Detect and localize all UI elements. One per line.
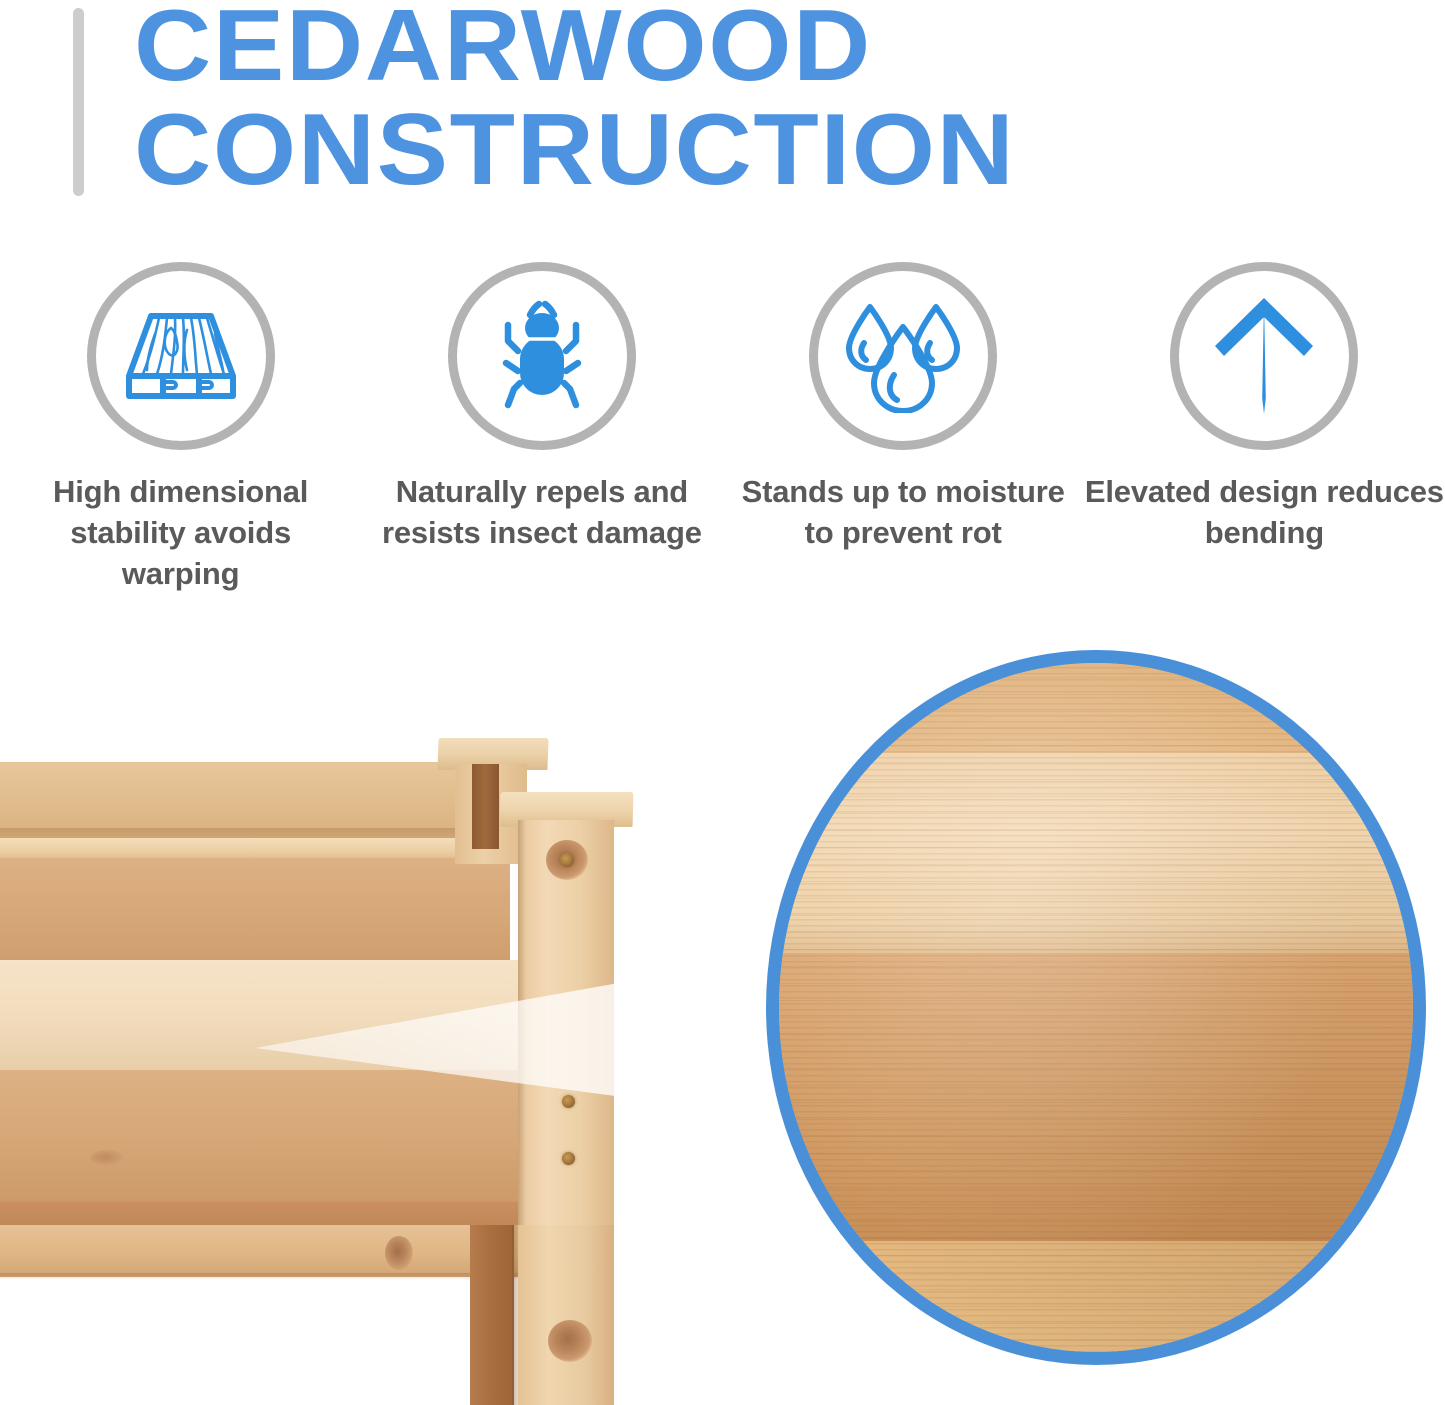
water-droplets-icon [840,299,966,413]
planter-post-front [518,820,614,1230]
screw-post-mid [562,1095,575,1108]
title-block: CEDARWOOD CONSTRUCTION [0,0,1445,215]
icon-circle-4 [1170,262,1358,450]
feature-item-elevated: Elevated design reduces bending [1084,262,1445,612]
screw-post-lower [562,1152,575,1165]
title-line-1: CEDARWOOD [134,0,1406,98]
planter-leg-front [518,1225,614,1405]
icon-circle-3 [809,262,997,450]
icon-circle-1 [87,262,275,450]
product-photo-area [0,620,1445,1405]
planter-board-lower [0,1070,528,1204]
magnifier-circle [766,650,1426,1365]
feature-caption-1: High dimensional stability avoids warpin… [16,471,346,594]
feature-item-insect: Naturally repels and resists insect dama… [361,262,722,612]
planter-bottom-rail [0,1225,530,1277]
feature-item-stability: High dimensional stability avoids warpin… [0,262,361,612]
planter-leg-back [470,1225,514,1405]
feature-caption-3: Stands up to moisture to prevent rot [738,471,1068,553]
wood-grain-plank-icon [119,304,243,408]
feature-row: High dimensional stability avoids warpin… [0,262,1445,612]
planter-bottom-rail-edge [0,1273,530,1280]
planter-board-middle [0,960,528,1072]
page-title: CEDARWOOD CONSTRUCTION [134,0,1334,202]
planter-post-front-edge [518,820,526,1230]
feature-item-moisture: Stands up to moisture to prevent rot [723,262,1084,612]
screw-post-top [560,853,574,867]
wood-knot-leg [548,1320,592,1362]
title-line-2: CONSTRUCTION [134,98,1406,202]
planter-post-gap-shadow [472,764,499,849]
planter-board-upper [0,858,510,962]
feature-caption-4: Elevated design reduces bending [1084,471,1444,553]
wood-knot-board3 [90,1150,124,1166]
wood-knot-rail [385,1236,413,1270]
magnifier-shading [766,650,1426,1365]
title-accent-bar [73,8,84,196]
planter-top-rim [0,838,510,860]
bug-icon [484,297,600,415]
upward-arrow-icon [1208,294,1320,418]
cedar-planter-product [0,720,700,1405]
feature-caption-2: Naturally repels and resists insect dama… [377,471,707,553]
icon-circle-2 [448,262,636,450]
